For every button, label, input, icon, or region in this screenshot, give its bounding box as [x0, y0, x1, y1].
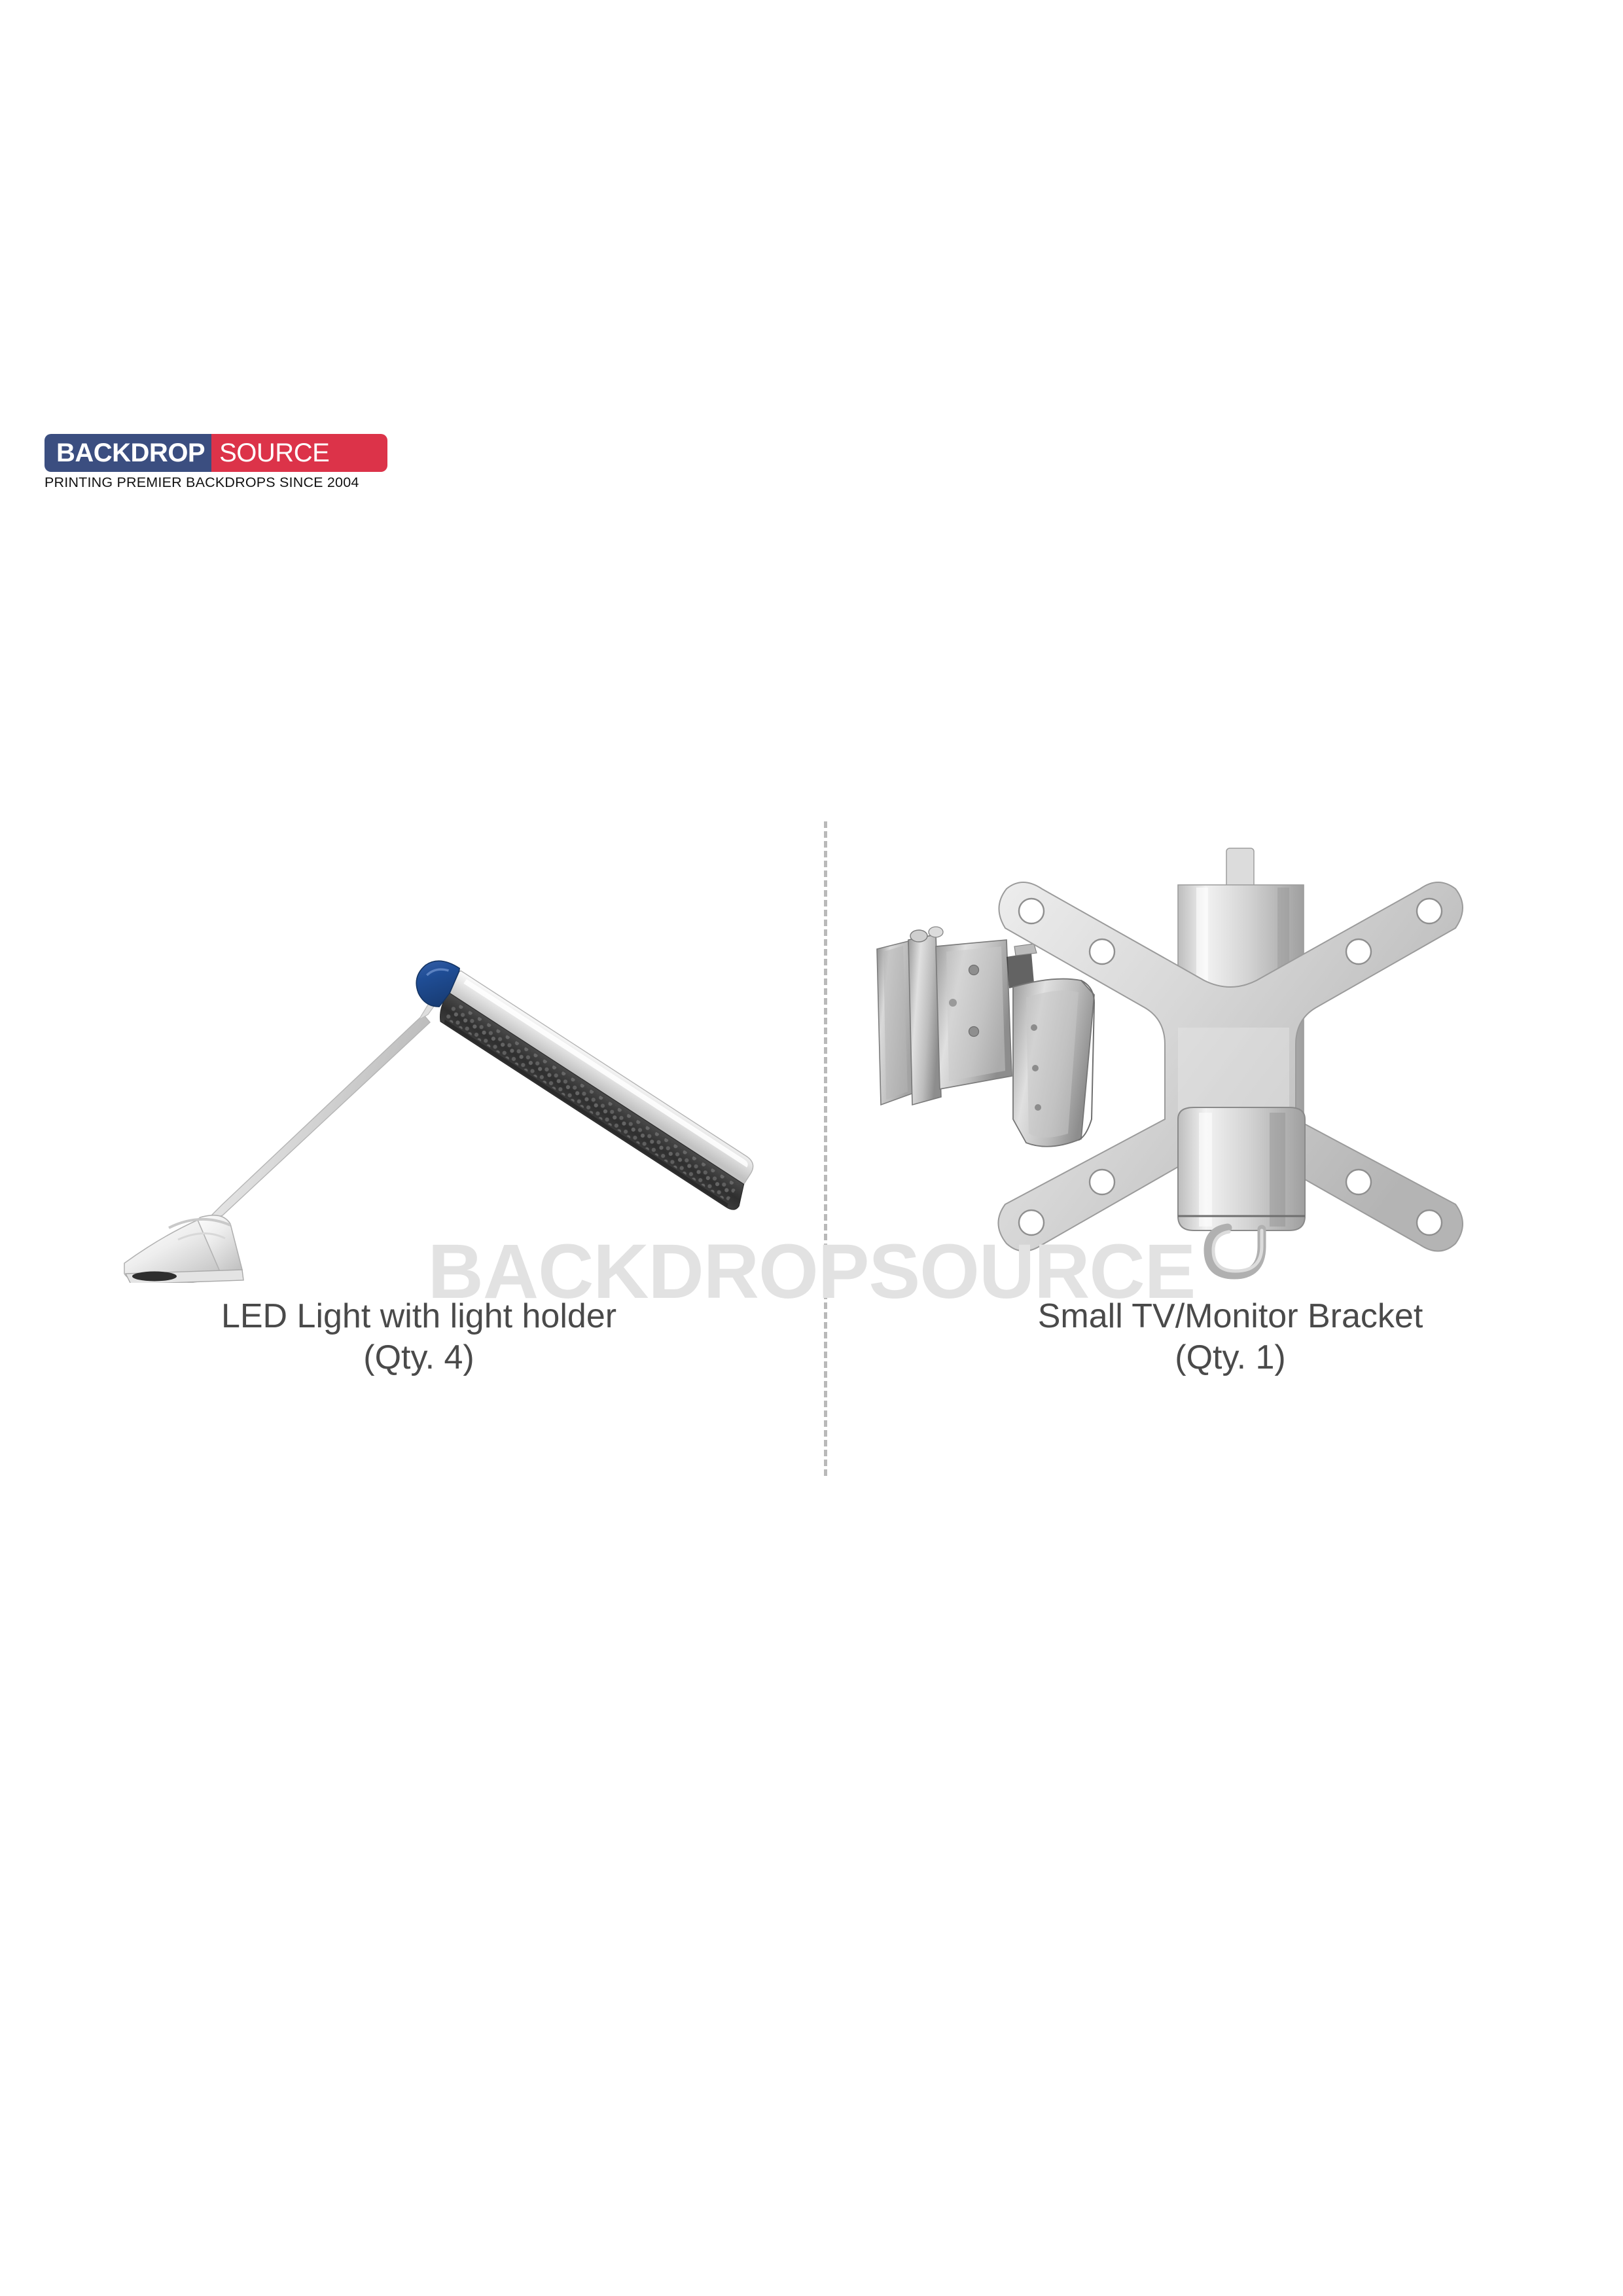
led-light-with-holder-image — [26, 812, 811, 1283]
logo-word-backdrop: BACKDROP — [45, 434, 211, 472]
logo-tagline: PRINTING PREMIER BACKDROPS SINCE 2004 — [45, 475, 387, 491]
part-qty-tv-bracket: (Qty. 1) — [838, 1337, 1623, 1378]
part-caption-led-light: LED Light with light holder (Qty. 4) — [26, 1296, 811, 1379]
brand-logo: BACKDROP SOURCE PRINTING PREMIER BACKDRO… — [45, 434, 387, 491]
part-name-led-light: LED Light with light holder — [221, 1297, 616, 1335]
parts-stage: LED Light with light holder (Qty. 4) — [0, 812, 1623, 1505]
logo-badge: BACKDROP SOURCE — [45, 434, 387, 472]
part-qty-led-light: (Qty. 4) — [26, 1337, 811, 1378]
small-tv-monitor-bracket-image — [838, 812, 1623, 1283]
part-name-tv-bracket: Small TV/Monitor Bracket — [1038, 1297, 1423, 1335]
part-caption-tv-bracket: Small TV/Monitor Bracket (Qty. 1) — [838, 1296, 1623, 1379]
part-item-tv-bracket: Small TV/Monitor Bracket (Qty. 1) — [838, 812, 1623, 1505]
column-divider — [824, 821, 827, 1476]
part-item-led-light: LED Light with light holder (Qty. 4) — [26, 812, 811, 1505]
logo-word-source: SOURCE — [211, 434, 387, 472]
